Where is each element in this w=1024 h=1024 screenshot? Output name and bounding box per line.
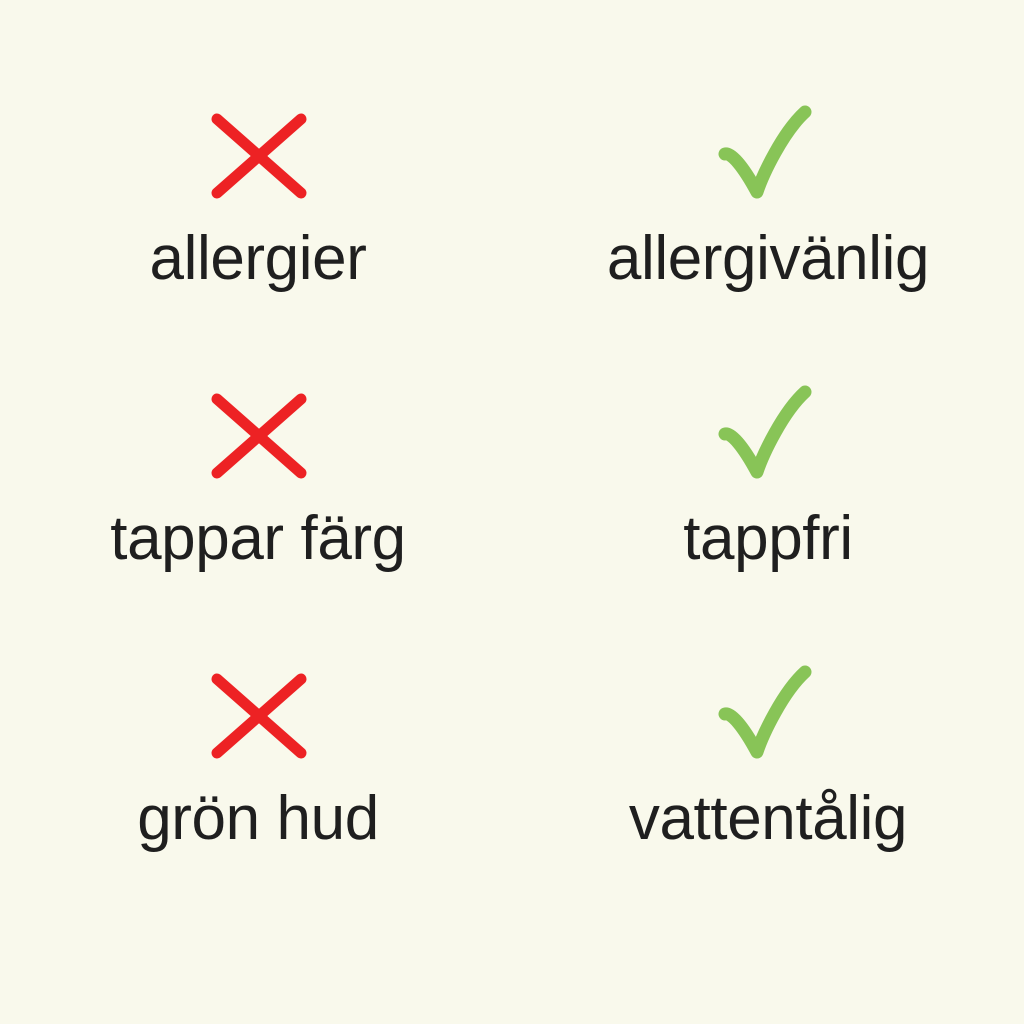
check-icon bbox=[707, 376, 827, 496]
comparison-label: tappar färg bbox=[110, 506, 405, 571]
comparison-label: tappfri bbox=[683, 506, 853, 571]
comparison-label: grön hud bbox=[137, 786, 379, 851]
comparison-label: allergivänlig bbox=[607, 226, 929, 291]
comparison-label: vattentålig bbox=[629, 786, 907, 851]
comparison-cell-positive: vattentålig bbox=[512, 656, 1024, 851]
cross-icon bbox=[199, 376, 319, 496]
comparison-row: grön hud vattentålig bbox=[0, 656, 1024, 936]
comparison-cell-positive: allergivänlig bbox=[512, 96, 1024, 291]
comparison-label: allergier bbox=[150, 226, 367, 291]
comparison-cell-negative: allergier bbox=[0, 96, 512, 291]
comparison-board: allergier allergivänlig bbox=[0, 0, 1024, 1024]
comparison-row: allergier allergivänlig bbox=[0, 96, 1024, 376]
check-icon bbox=[707, 96, 827, 216]
comparison-row: tappar färg tappfri bbox=[0, 376, 1024, 656]
comparison-rows: allergier allergivänlig bbox=[0, 96, 1024, 936]
comparison-cell-positive: tappfri bbox=[512, 376, 1024, 571]
check-icon bbox=[707, 656, 827, 776]
comparison-cell-negative: grön hud bbox=[0, 656, 512, 851]
cross-icon bbox=[199, 96, 319, 216]
comparison-cell-negative: tappar färg bbox=[0, 376, 512, 571]
cross-icon bbox=[199, 656, 319, 776]
